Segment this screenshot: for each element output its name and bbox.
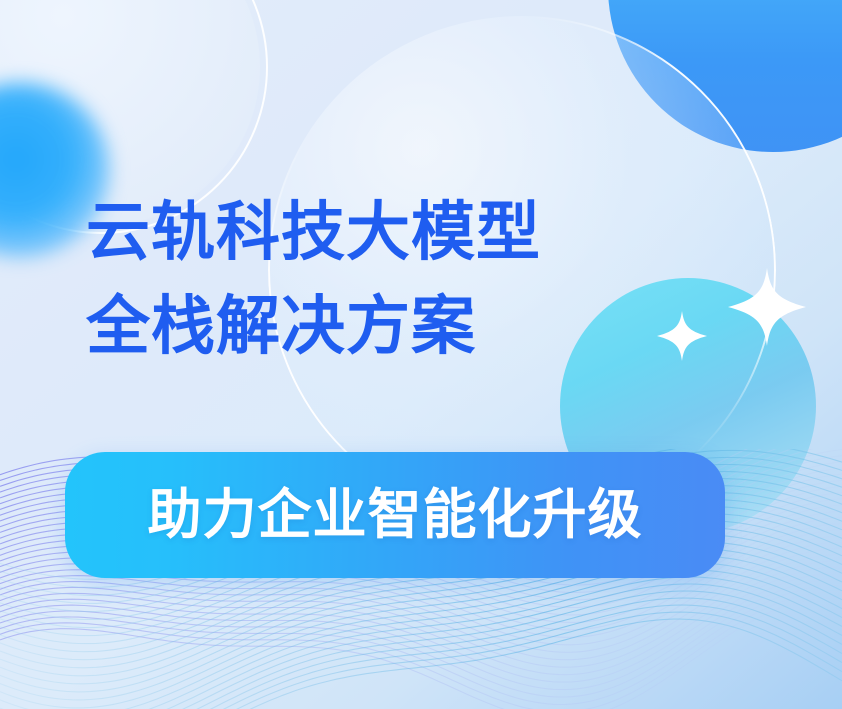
promo-poster: 云轨科技大模型 全栈解决方案 助力企业智能化升级 bbox=[0, 0, 842, 709]
poster-content: 云轨科技大模型 全栈解决方案 助力企业智能化升级 bbox=[0, 0, 842, 709]
cta-button-label: 助力企业智能化升级 bbox=[148, 488, 643, 542]
headline-line-1: 云轨科技大模型 bbox=[86, 184, 541, 280]
headline-line-2: 全栈解决方案 bbox=[86, 278, 541, 374]
cta-button[interactable]: 助力企业智能化升级 bbox=[65, 452, 725, 578]
page-title: 云轨科技大模型 全栈解决方案 bbox=[86, 184, 541, 374]
